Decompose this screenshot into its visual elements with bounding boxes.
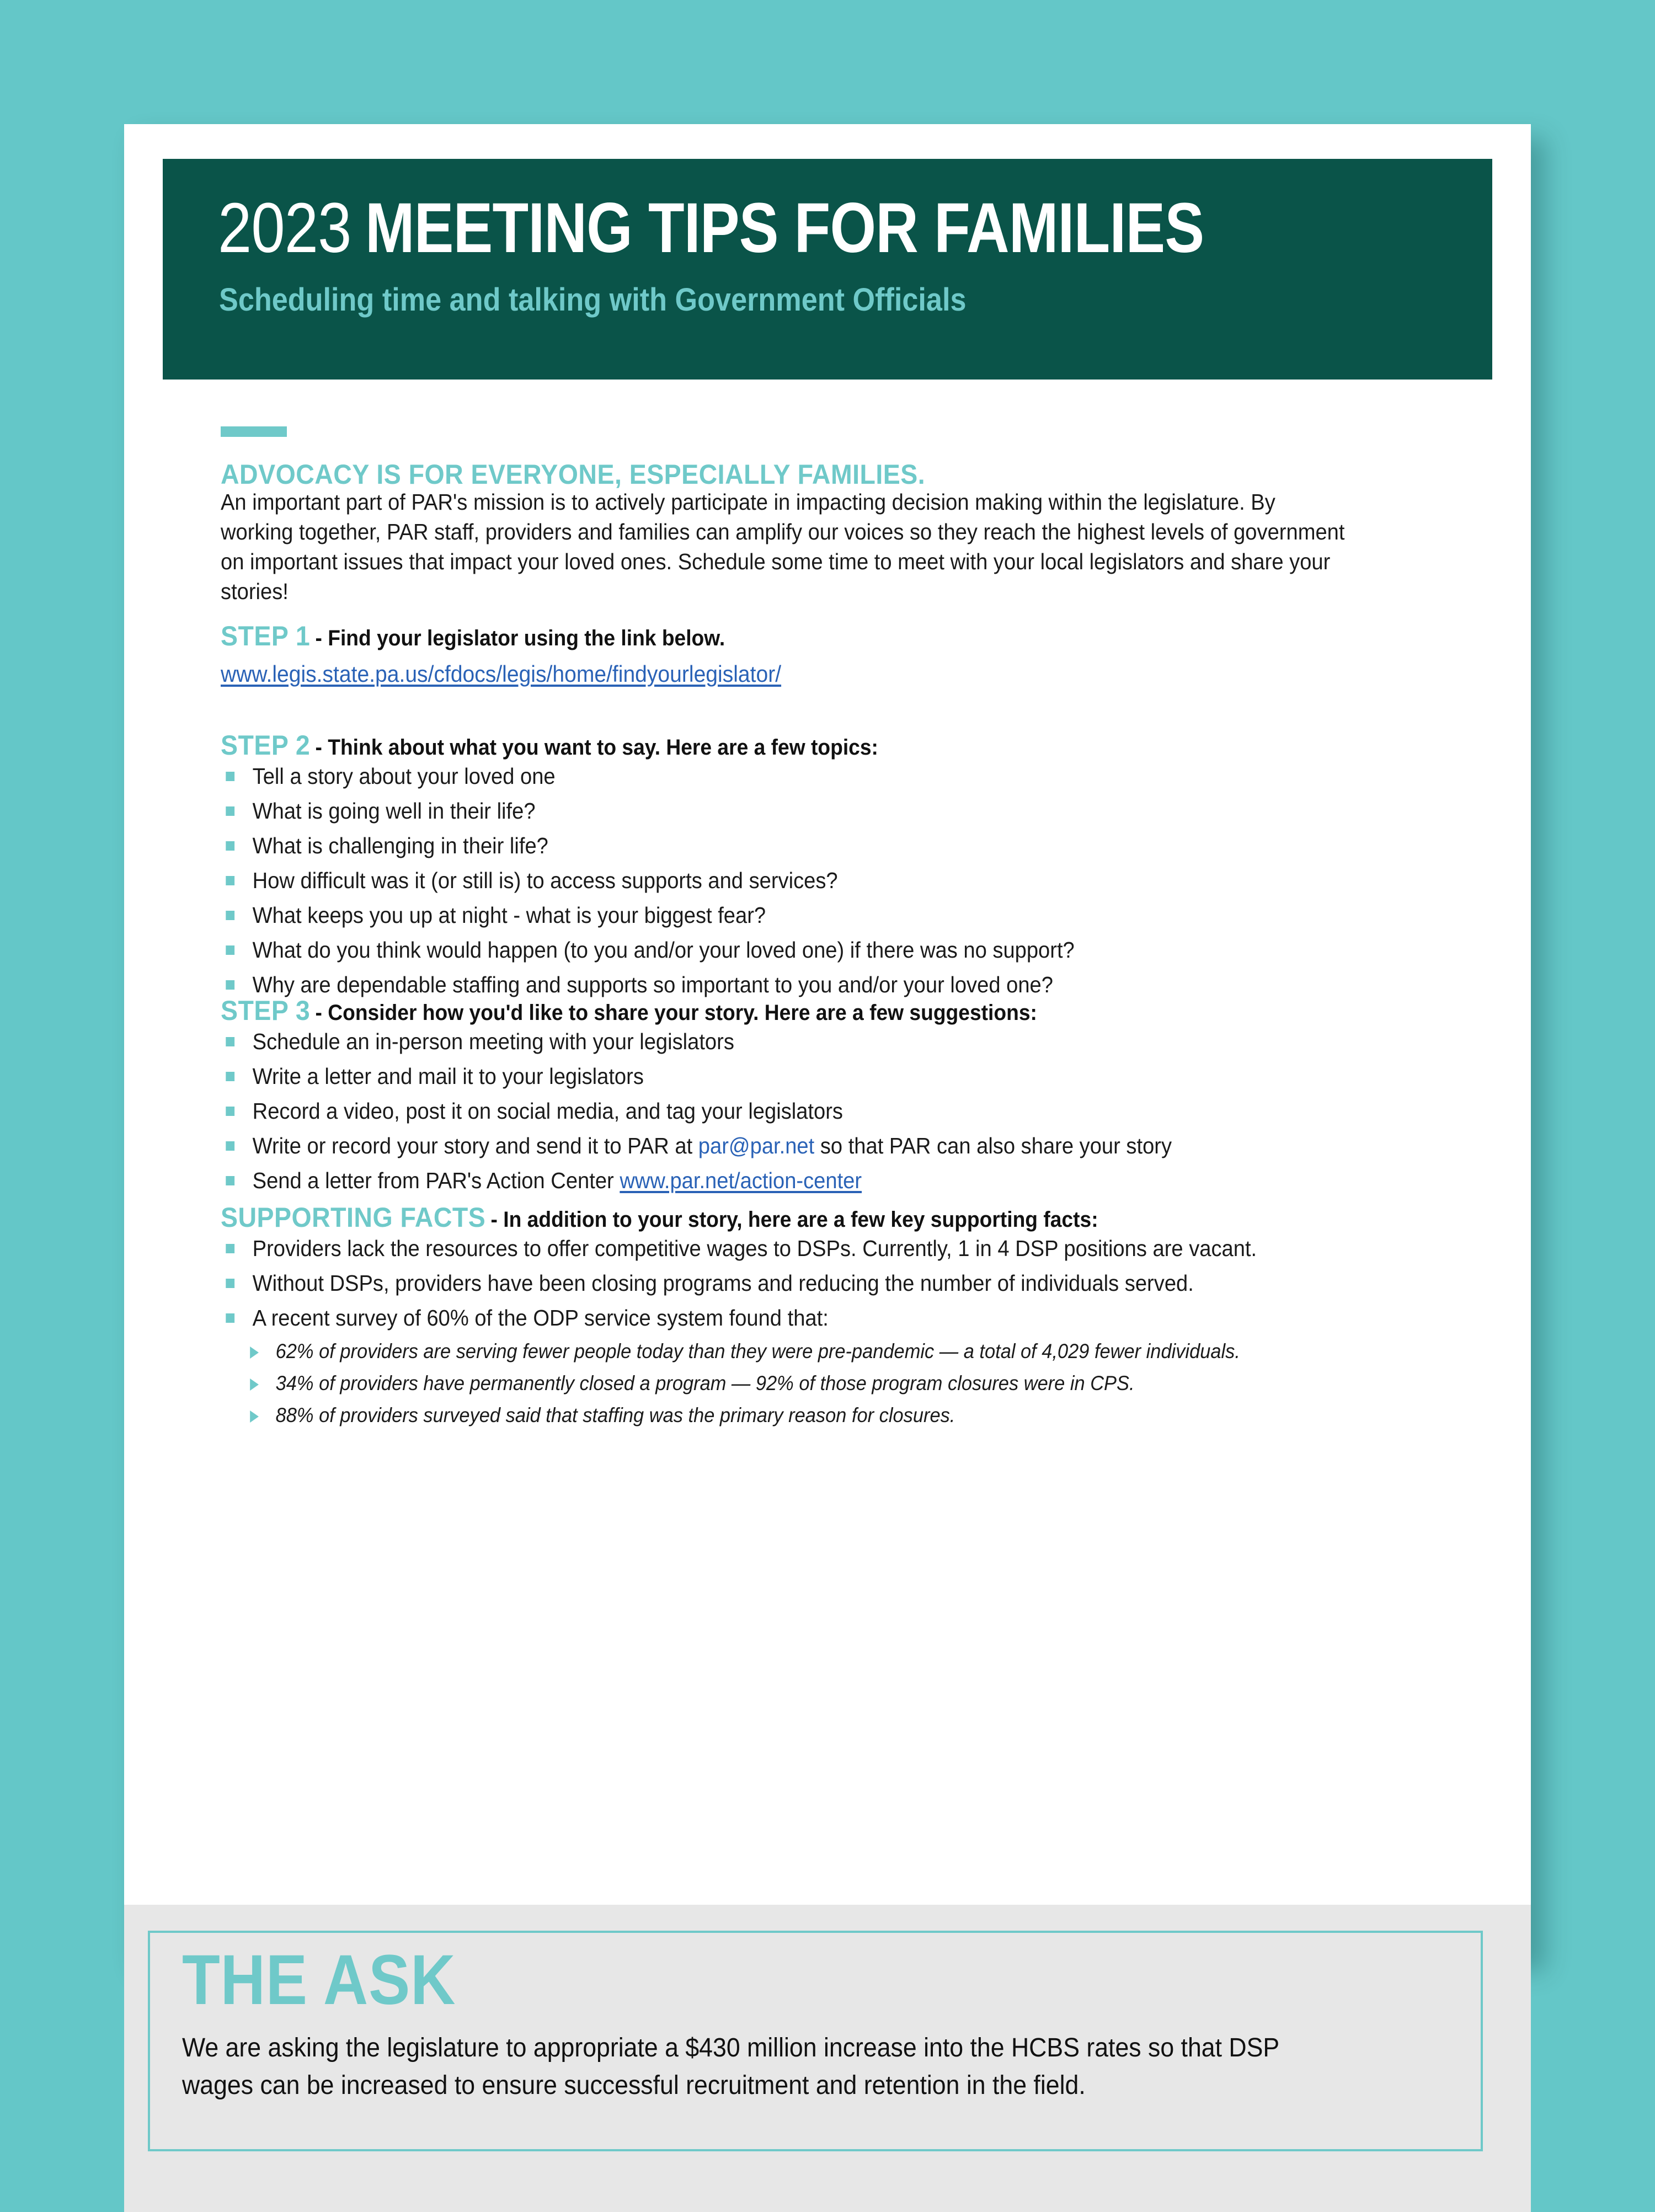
supporting-facts-list: Providers lack the resources to offer co… — [221, 1233, 1462, 1434]
supporting-facts-heading: SUPPORTING FACTS- In addition to your st… — [221, 1201, 1098, 1233]
step3-heading: STEP 3- Consider how you'd like to share… — [221, 995, 1037, 1027]
supporting-facts-sub-list: 62% of providers are serving fewer peopl… — [221, 1338, 1462, 1429]
action-center-before: Send a letter from PAR's Action Center — [253, 1168, 614, 1193]
list-item: Record a video, post it on social media,… — [221, 1096, 1375, 1126]
list-item: Write a letter and mail it to your legis… — [221, 1061, 1375, 1091]
sub-list-item-text: 88% of providers surveyed said that staf… — [276, 1404, 955, 1426]
step1-label: STEP 1 — [221, 621, 310, 651]
list-item: Providers lack the resources to offer co… — [221, 1233, 1375, 1263]
list-item-text: Record a video, post it on social media,… — [253, 1098, 843, 1124]
page-title: 2023MEETING TIPS FOR FAMILIES — [218, 193, 1364, 264]
square-bullet-icon — [226, 1037, 234, 1046]
list-item: What keeps you up at night - what is you… — [221, 900, 1375, 930]
list-item: Schedule an in-person meeting with your … — [221, 1027, 1375, 1056]
email-item-after: so that PAR can also share your story — [820, 1133, 1172, 1158]
intro-paragraph: An important part of PAR's mission is to… — [221, 487, 1349, 606]
square-bullet-icon — [226, 806, 234, 816]
page-subtitle: Scheduling time and talking with Governm… — [219, 281, 967, 318]
step2-list: Tell a story about your loved one What i… — [221, 761, 1462, 1005]
square-bullet-icon — [226, 1141, 234, 1151]
square-bullet-icon — [226, 841, 234, 851]
list-item-text: What is going well in their life? — [253, 798, 536, 824]
step2-label: STEP 2 — [221, 730, 310, 761]
step1-description: - Find your legislator using the link be… — [315, 626, 725, 650]
list-item-text: What keeps you up at night - what is you… — [253, 902, 766, 928]
list-item-text: What do you think would happen (to you a… — [253, 937, 1075, 963]
email-item-before: Write or record your story and send it t… — [253, 1133, 693, 1158]
document-page: 2023MEETING TIPS FOR FAMILIES Scheduling… — [124, 124, 1531, 1957]
step1-heading: STEP 1- Find your legislator using the l… — [221, 620, 725, 652]
list-item-text: A recent survey of 60% of the ODP servic… — [253, 1305, 829, 1331]
step3-list: Schedule an in-person meeting with your … — [221, 1027, 1462, 1200]
the-ask-box: THE ASK We are asking the legislature to… — [148, 1931, 1483, 2151]
list-item: A recent survey of 60% of the ODP servic… — [221, 1303, 1375, 1333]
square-bullet-icon — [226, 772, 234, 781]
triangle-bullet-icon — [250, 1379, 259, 1391]
square-bullet-icon — [226, 1072, 234, 1081]
list-item-text: Why are dependable staffing and supports… — [253, 972, 1053, 997]
square-bullet-icon — [226, 876, 234, 885]
sub-list-item: 34% of providers have permanently closed… — [244, 1370, 1376, 1397]
list-item: Tell a story about your loved one — [221, 761, 1375, 791]
sub-list-item: 88% of providers surveyed said that staf… — [244, 1402, 1376, 1429]
sub-list-item-text: 34% of providers have permanently closed… — [276, 1372, 1135, 1394]
header-banner: 2023MEETING TIPS FOR FAMILIES Scheduling… — [163, 159, 1492, 380]
list-item-text: Tell a story about your loved one — [253, 763, 556, 789]
step2-heading: STEP 2- Think about what you want to say… — [221, 729, 878, 761]
square-bullet-icon — [226, 1244, 234, 1253]
list-item-text: Without DSPs, providers have been closin… — [253, 1270, 1194, 1296]
list-item-text: How difficult was it (or still is) to ac… — [253, 868, 838, 893]
step3-label: STEP 3 — [221, 995, 310, 1026]
list-item: Without DSPs, providers have been closin… — [221, 1268, 1375, 1298]
sub-list-item-text: 62% of providers are serving fewer peopl… — [276, 1340, 1240, 1363]
square-bullet-icon — [226, 945, 234, 955]
list-item-action-center: Send a letter from PAR's Action Center w… — [221, 1166, 1375, 1195]
accent-rule — [221, 426, 287, 437]
find-legislator-link[interactable]: www.legis.state.pa.us/cfdocs/legis/home/… — [221, 661, 781, 687]
step1-link-row[interactable]: www.legis.state.pa.us/cfdocs/legis/home/… — [221, 661, 781, 687]
advocacy-heading: ADVOCACY IS FOR EVERYONE, ESPECIALLY FAM… — [221, 458, 925, 490]
the-ask-band: THE ASK We are asking the legislature to… — [124, 1905, 1531, 2212]
list-item-text: Schedule an in-person meeting with your … — [253, 1029, 734, 1054]
square-bullet-icon — [226, 1313, 234, 1323]
supporting-facts-label: SUPPORTING FACTS — [221, 1202, 485, 1233]
list-item-text: What is challenging in their life? — [253, 833, 548, 858]
title-main: MEETING TIPS FOR FAMILIES — [365, 193, 1204, 264]
list-item: What is challenging in their life? — [221, 831, 1375, 861]
sub-list-item: 62% of providers are serving fewer peopl… — [244, 1338, 1376, 1365]
square-bullet-icon — [226, 1279, 234, 1288]
triangle-bullet-icon — [250, 1410, 259, 1423]
list-item: What is going well in their life? — [221, 796, 1375, 826]
square-bullet-icon — [226, 1176, 234, 1185]
step2-description: - Think about what you want to say. Here… — [315, 735, 878, 760]
list-item-email: Write or record your story and send it t… — [221, 1131, 1375, 1161]
par-email-link[interactable]: par@par.net — [698, 1133, 814, 1158]
list-item-text: Providers lack the resources to offer co… — [253, 1236, 1257, 1261]
the-ask-text: We are asking the legislature to appropr… — [182, 2029, 1352, 2104]
supporting-facts-description: - In addition to your story, here are a … — [491, 1207, 1098, 1232]
list-item: How difficult was it (or still is) to ac… — [221, 865, 1375, 895]
square-bullet-icon — [226, 1107, 234, 1116]
square-bullet-icon — [226, 911, 234, 920]
list-item: What do you think would happen (to you a… — [221, 935, 1375, 965]
the-ask-title: THE ASK — [182, 1945, 456, 2016]
list-item-text: Write a letter and mail it to your legis… — [253, 1064, 644, 1089]
square-bullet-icon — [226, 980, 234, 990]
triangle-bullet-icon — [250, 1347, 259, 1359]
step3-description: - Consider how you'd like to share your … — [315, 1001, 1037, 1025]
title-year: 2023 — [218, 193, 351, 264]
action-center-link[interactable]: www.par.net/action-center — [620, 1168, 862, 1193]
